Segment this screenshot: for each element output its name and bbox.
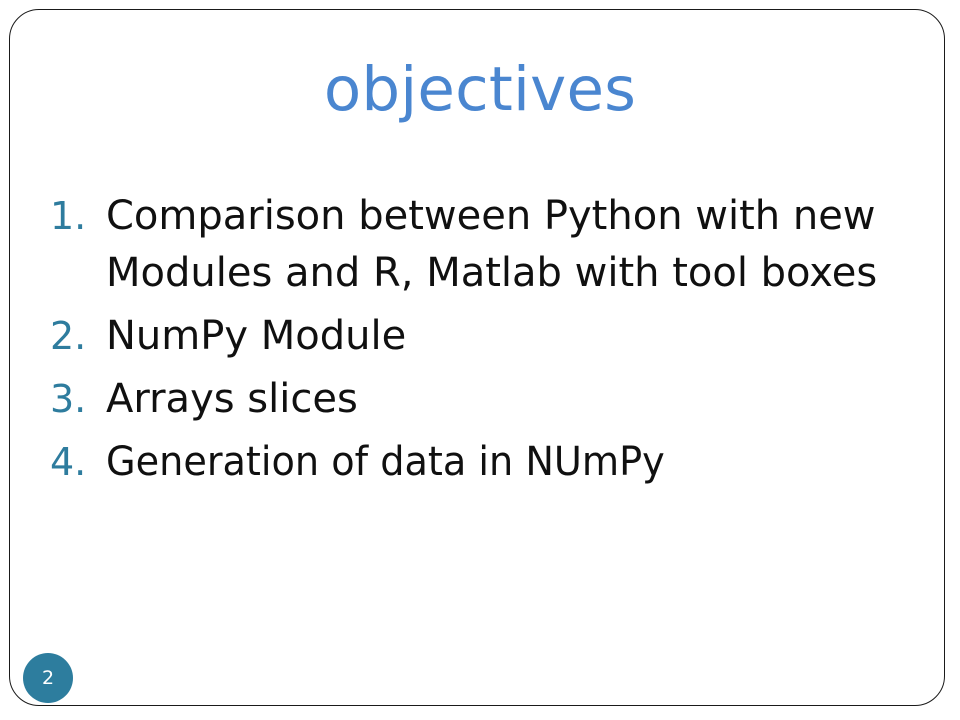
- page-title: objectives: [0, 58, 960, 122]
- list-item-label: Generation of data in NUmPy: [106, 434, 862, 491]
- list-item-label: Arrays slices: [106, 371, 898, 428]
- list-item-label: NumPy Module: [106, 308, 898, 365]
- slide-canvas: objectives 1. Comparison between Python …: [0, 0, 960, 720]
- list-item: 3. Arrays slices: [48, 371, 898, 428]
- list-item-label: Comparison between Python with new Modul…: [106, 188, 898, 302]
- list-item-number: 2.: [50, 308, 100, 365]
- list-item-number: 1.: [50, 188, 100, 245]
- list-item-number: 4.: [50, 434, 100, 491]
- list-item: 2. NumPy Module: [48, 308, 898, 365]
- list-item: 1. Comparison between Python with new Mo…: [48, 188, 898, 302]
- list-item-number: 3.: [50, 371, 100, 428]
- page-number-badge: 2: [23, 653, 73, 703]
- objectives-list: 1. Comparison between Python with new Mo…: [48, 188, 898, 497]
- list-item: 4. Generation of data in NUmPy: [48, 434, 898, 491]
